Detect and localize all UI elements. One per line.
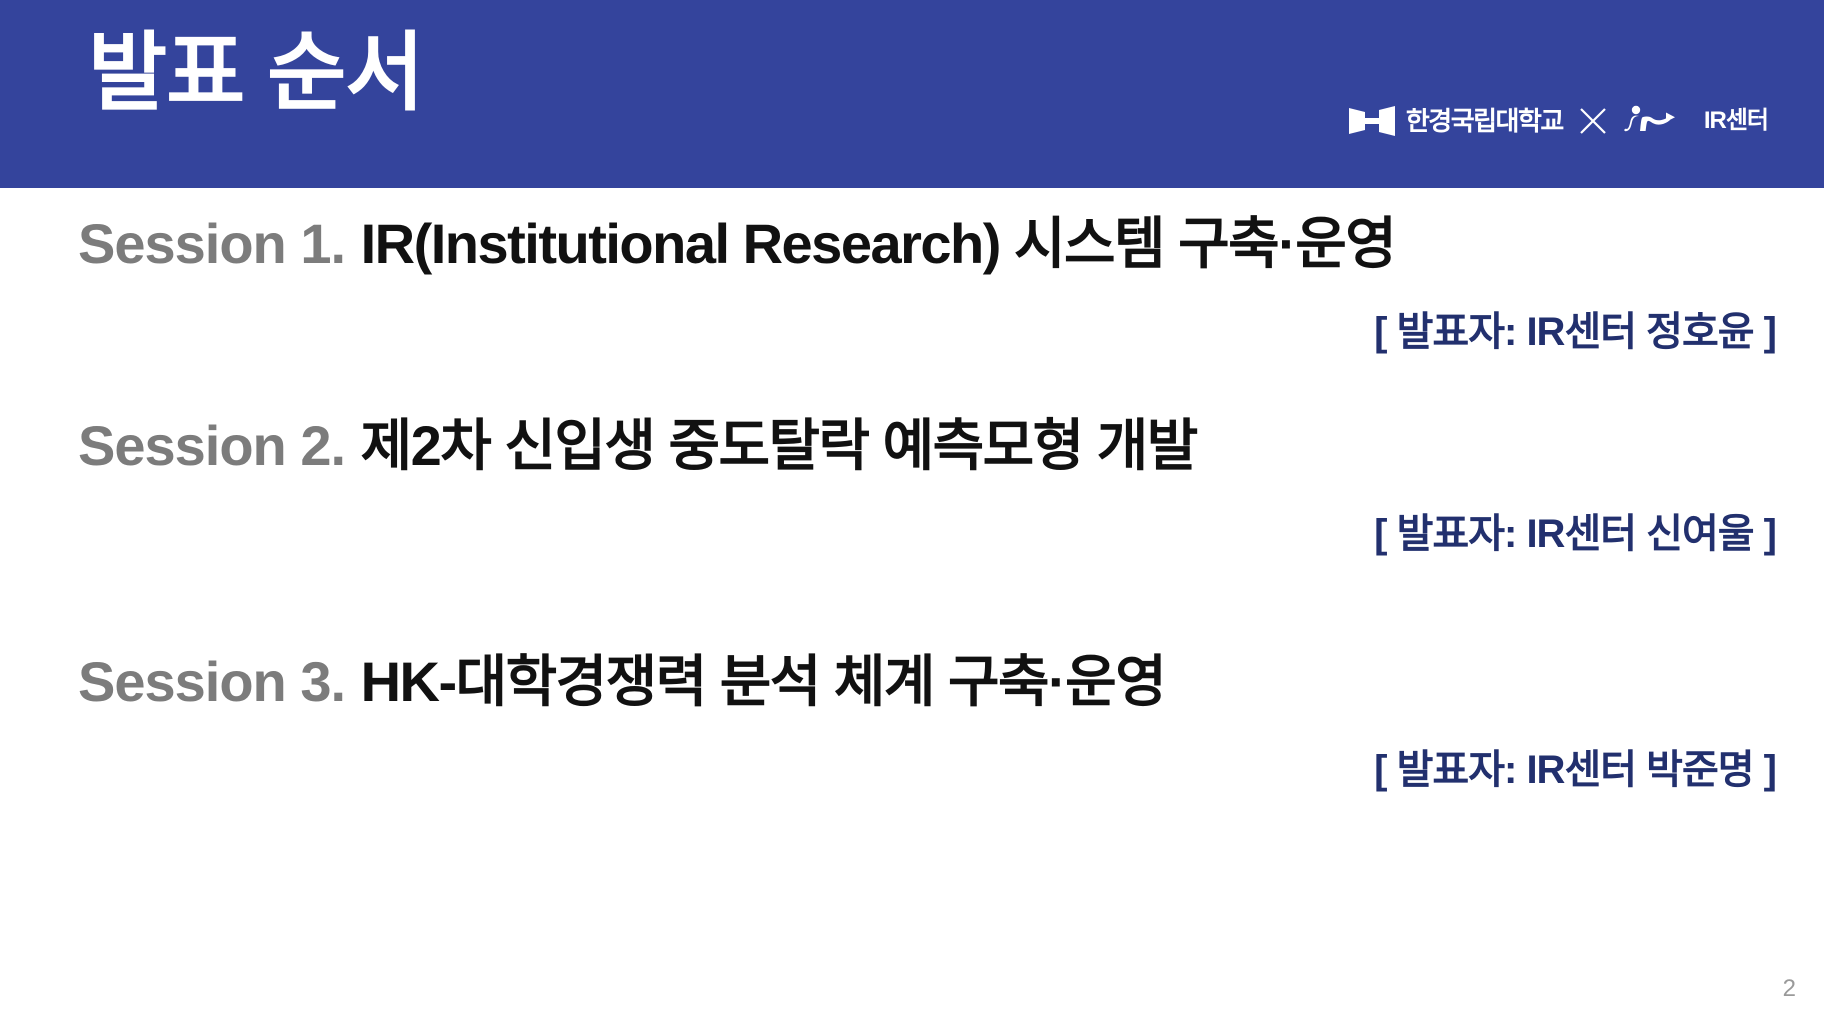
session-presenter-3: [ 발표자: IR센터 박준명 ] (0, 737, 1824, 795)
session-line-1: Session 1. IR(Institutional Research) 시스… (0, 212, 1824, 277)
session-topic-1: IR(Institutional Research) 시스템 구축·운영 (361, 212, 1396, 275)
session-line-3: Session 3. HK-대학경쟁력 분석 체계 구축·운영 (0, 650, 1824, 715)
university-name: 한경국립대학교 (1406, 108, 1563, 134)
session-label-1: Session 1. (78, 212, 345, 275)
slide-header: 발표 순서 한경국립대학교 IR센터 (0, 0, 1824, 188)
page-number: 2 (1783, 977, 1796, 1001)
session-topic-3: HK-대학경쟁력 분석 체계 구축·운영 (361, 650, 1166, 713)
ir-script-arrow-icon (1623, 104, 1695, 138)
ir-center-label: IR센터 (1704, 109, 1768, 133)
session-topic-2: 제2차 신입생 중도탈락 예측모형 개발 (361, 414, 1197, 477)
x-separator-icon (1578, 106, 1608, 136)
session-presenter-2: [ 발표자: IR센터 신여울 ] (0, 501, 1824, 559)
session-block-1: Session 1. IR(Institutional Research) 시스… (0, 212, 1824, 357)
session-line-2: Session 2. 제2차 신입생 중도탈락 예측모형 개발 (0, 414, 1824, 479)
slide-body: Session 1. IR(Institutional Research) 시스… (0, 188, 1824, 1021)
session-block-2: Session 2. 제2차 신입생 중도탈락 예측모형 개발 [ 발표자: I… (0, 414, 1824, 559)
session-label-3: Session 3. (78, 650, 345, 713)
session-presenter-1: [ 발표자: IR센터 정호윤 ] (0, 299, 1824, 357)
page-title: 발표 순서 (88, 26, 423, 121)
session-block-3: Session 3. HK-대학경쟁력 분석 체계 구축·운영 [ 발표자: I… (0, 650, 1824, 795)
logo-lockup: 한경국립대학교 IR센터 (1349, 95, 1768, 147)
session-label-2: Session 2. (78, 414, 345, 477)
hankyong-h-mark-icon (1349, 106, 1395, 136)
